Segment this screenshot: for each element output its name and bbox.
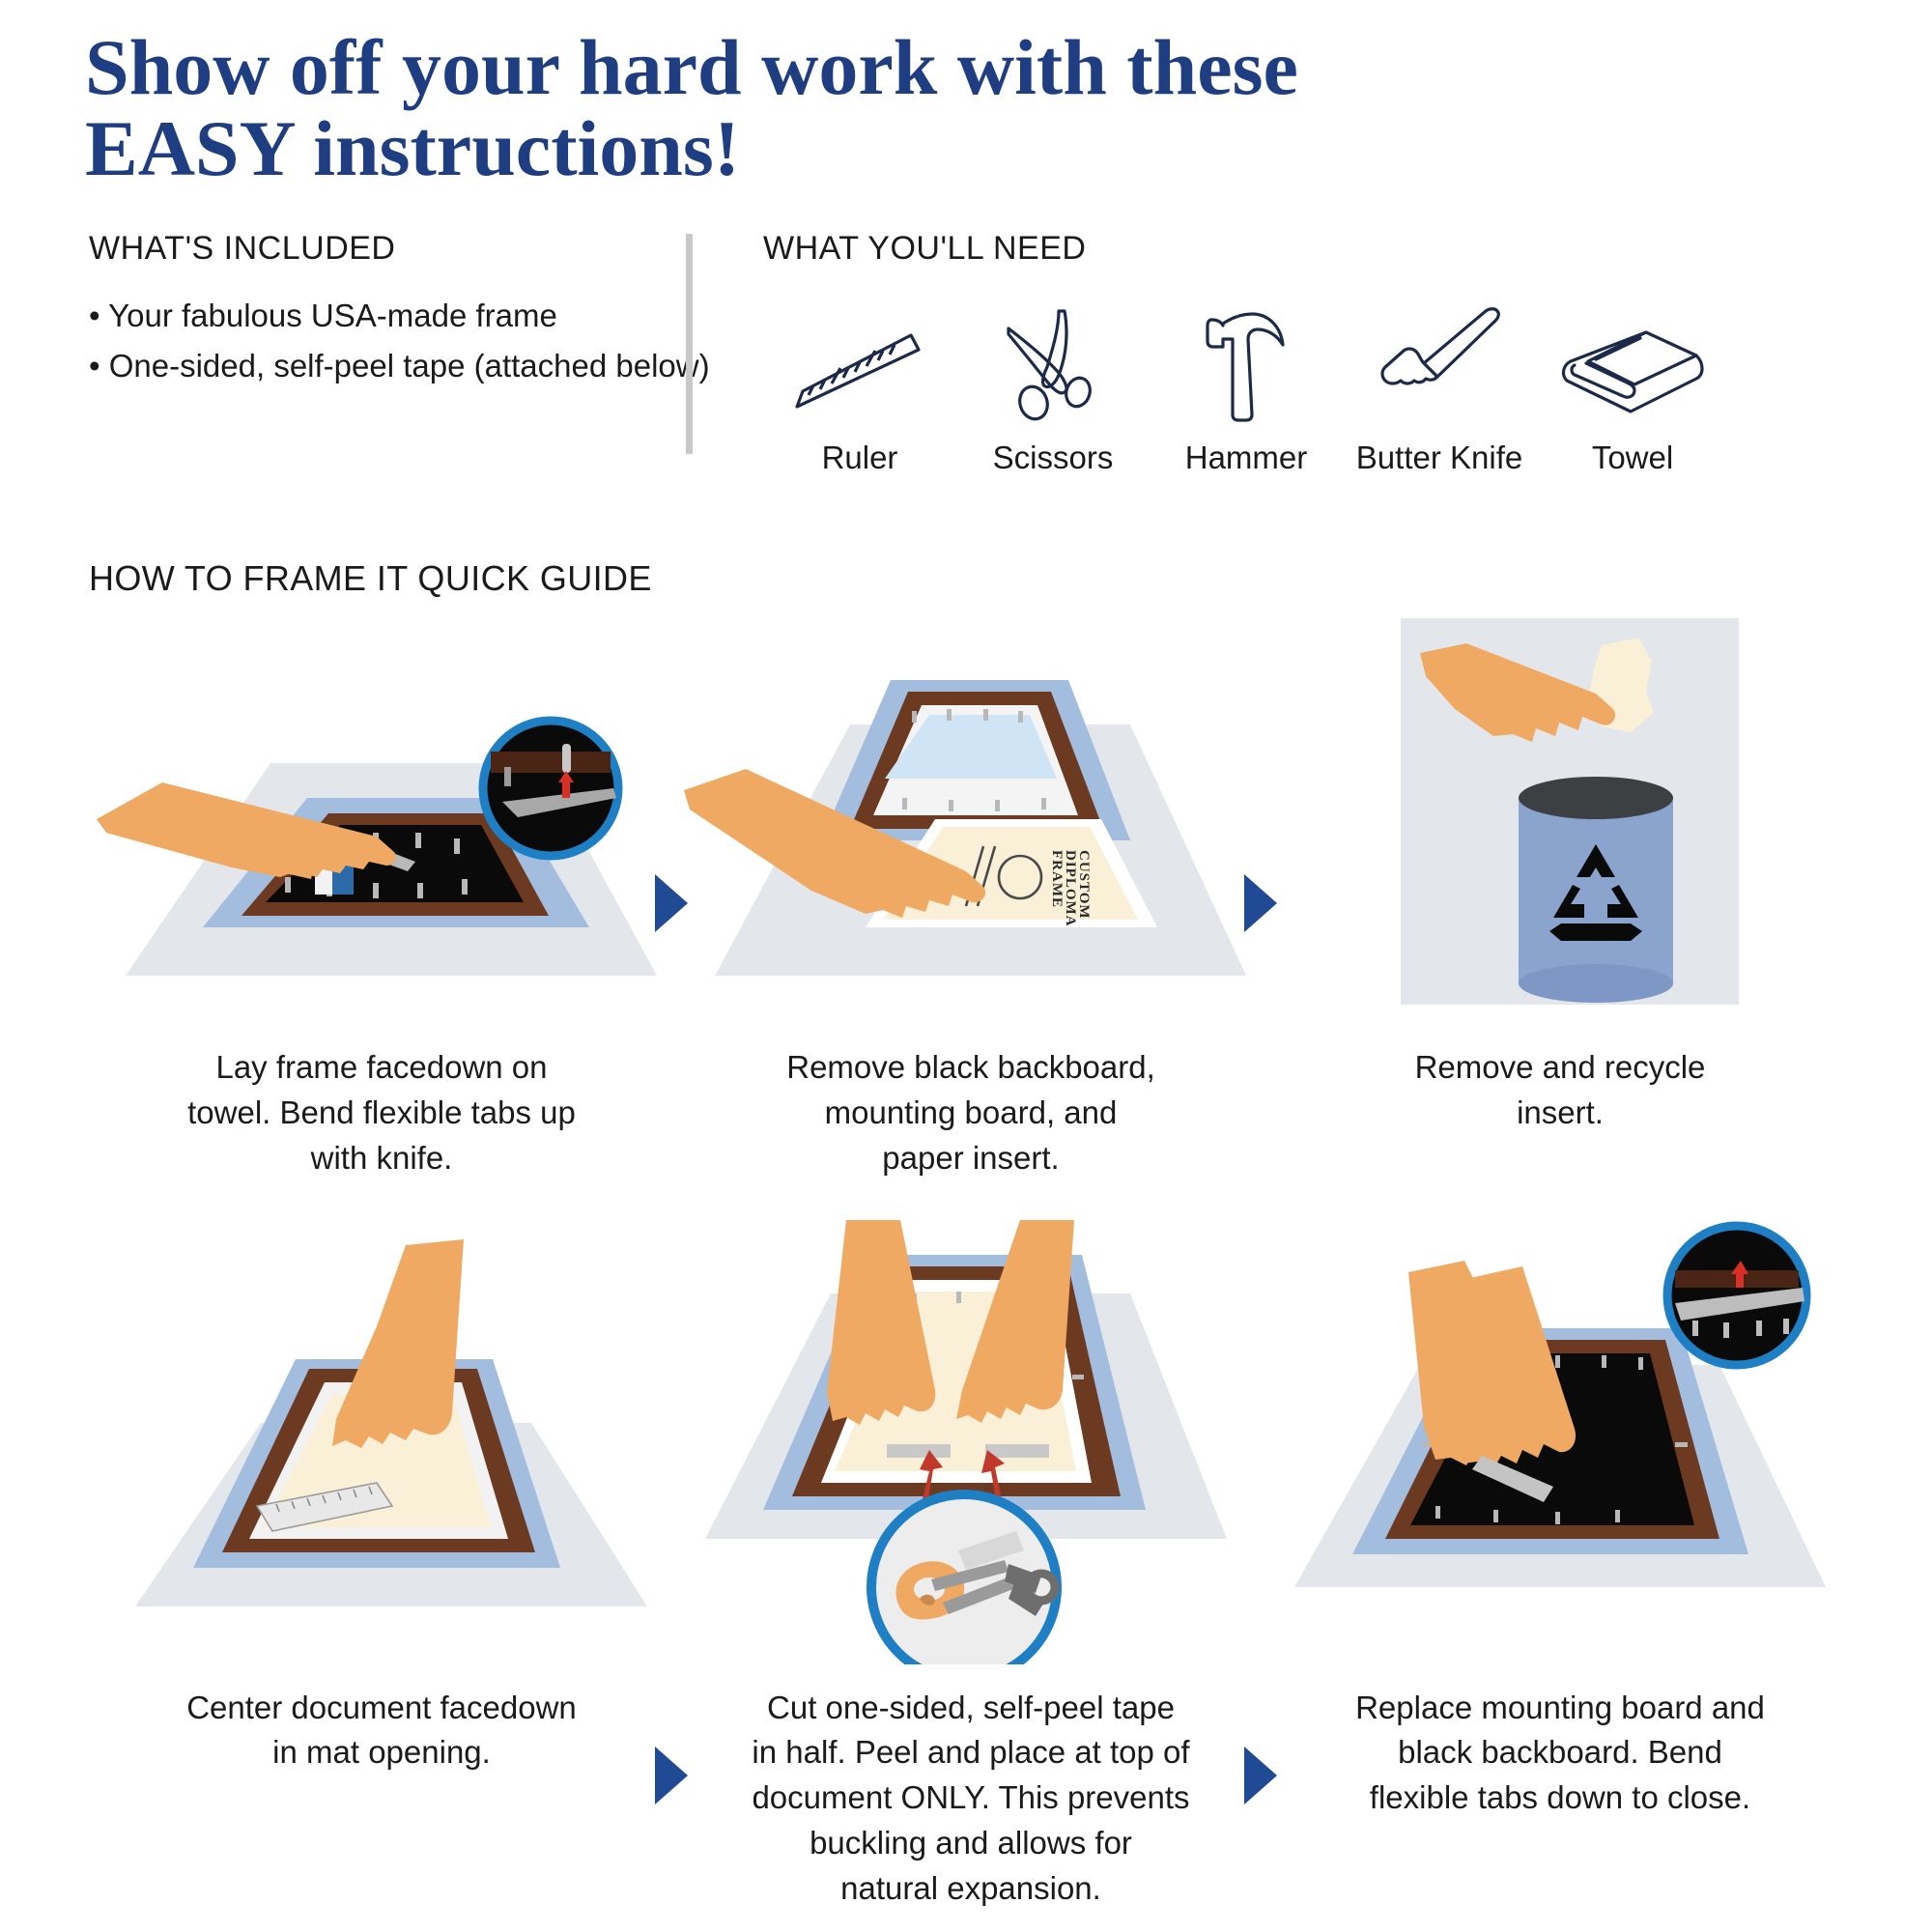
steps-row-1: Lay frame facedown on towel. Bend flexib… xyxy=(87,609,1855,1181)
step-2: CUSTOM DIPLOMA FRAME Remove black backbo… xyxy=(676,609,1265,1181)
tool-label: Hammer xyxy=(1150,440,1343,476)
tool-label: Ruler xyxy=(763,440,956,476)
vertical-divider xyxy=(686,234,693,454)
step-arrow-4-to-5 xyxy=(655,1747,688,1804)
included-list: • Your fabulous USA-made frame • One-sid… xyxy=(89,291,688,391)
ruler-icon xyxy=(763,300,956,424)
instruction-sheet: Show off your hard work with these EASY … xyxy=(0,0,1932,1932)
tools-row: Ruler Scissors xyxy=(763,300,1845,476)
tool-label: Towel xyxy=(1536,440,1729,476)
list-item: • One-sided, self-peel tape (attached be… xyxy=(89,341,688,391)
scissors-icon xyxy=(956,300,1150,424)
what-youll-need-heading: WHAT YOU'LL NEED xyxy=(763,230,1845,268)
tool-hammer: Hammer xyxy=(1150,300,1343,476)
step-5: Cut one-sided, self-peel tape in half. P… xyxy=(676,1220,1265,1912)
step-4-caption: Center document facedown in mat opening. xyxy=(87,1686,676,1776)
tool-ruler: Ruler xyxy=(763,300,956,476)
whats-included-heading: WHAT'S INCLUDED xyxy=(89,230,688,268)
quick-guide-heading: HOW TO FRAME IT QUICK GUIDE xyxy=(89,558,652,599)
tool-scissors: Scissors xyxy=(956,300,1150,476)
step-6-caption: Replace mounting board and black backboa… xyxy=(1265,1686,1855,1822)
step-4-illustration xyxy=(87,1220,676,1664)
step-3-illustration xyxy=(1265,609,1855,1024)
whats-included-section: WHAT'S INCLUDED • Your fabulous USA-made… xyxy=(89,230,688,391)
tool-butter-knife: Butter Knife xyxy=(1343,300,1536,476)
step-1: Lay frame facedown on towel. Bend flexib… xyxy=(87,609,676,1181)
step-5-illustration xyxy=(676,1220,1265,1664)
tool-label: Scissors xyxy=(956,440,1150,476)
step-5-caption: Cut one-sided, self-peel tape in half. P… xyxy=(676,1686,1265,1912)
step-4: Center document facedown in mat opening. xyxy=(87,1220,676,1912)
list-item: • Your fabulous USA-made frame xyxy=(89,291,688,341)
step-3-caption: Remove and recycle insert. xyxy=(1265,1045,1855,1136)
tool-towel: Towel xyxy=(1536,300,1729,476)
towel-icon xyxy=(1536,300,1729,424)
step-6-illustration xyxy=(1265,1220,1855,1664)
tool-label: Butter Knife xyxy=(1343,440,1536,476)
what-youll-need-section: WHAT YOU'LL NEED Ruler xyxy=(763,230,1845,476)
butter-knife-icon xyxy=(1343,300,1536,424)
step-1-caption: Lay frame facedown on towel. Bend flexib… xyxy=(87,1045,676,1181)
svg-text:FRAME: FRAME xyxy=(1049,850,1065,908)
steps-row-2: Center document facedown in mat opening. xyxy=(87,1220,1855,1912)
step-2-caption: Remove black backboard, mounting board, … xyxy=(676,1045,1265,1181)
steps-grid: Lay frame facedown on towel. Bend flexib… xyxy=(87,609,1855,1912)
step-6: Replace mounting board and black backboa… xyxy=(1265,1220,1855,1912)
step-1-illustration xyxy=(87,609,676,1024)
step-2-illustration: CUSTOM DIPLOMA FRAME xyxy=(676,609,1265,1024)
hammer-icon xyxy=(1150,300,1343,424)
page-title: Show off your hard work with these EASY … xyxy=(85,27,1534,188)
step-arrow-5-to-6 xyxy=(1244,1747,1277,1804)
step-3: Remove and recycle insert. xyxy=(1265,609,1855,1181)
